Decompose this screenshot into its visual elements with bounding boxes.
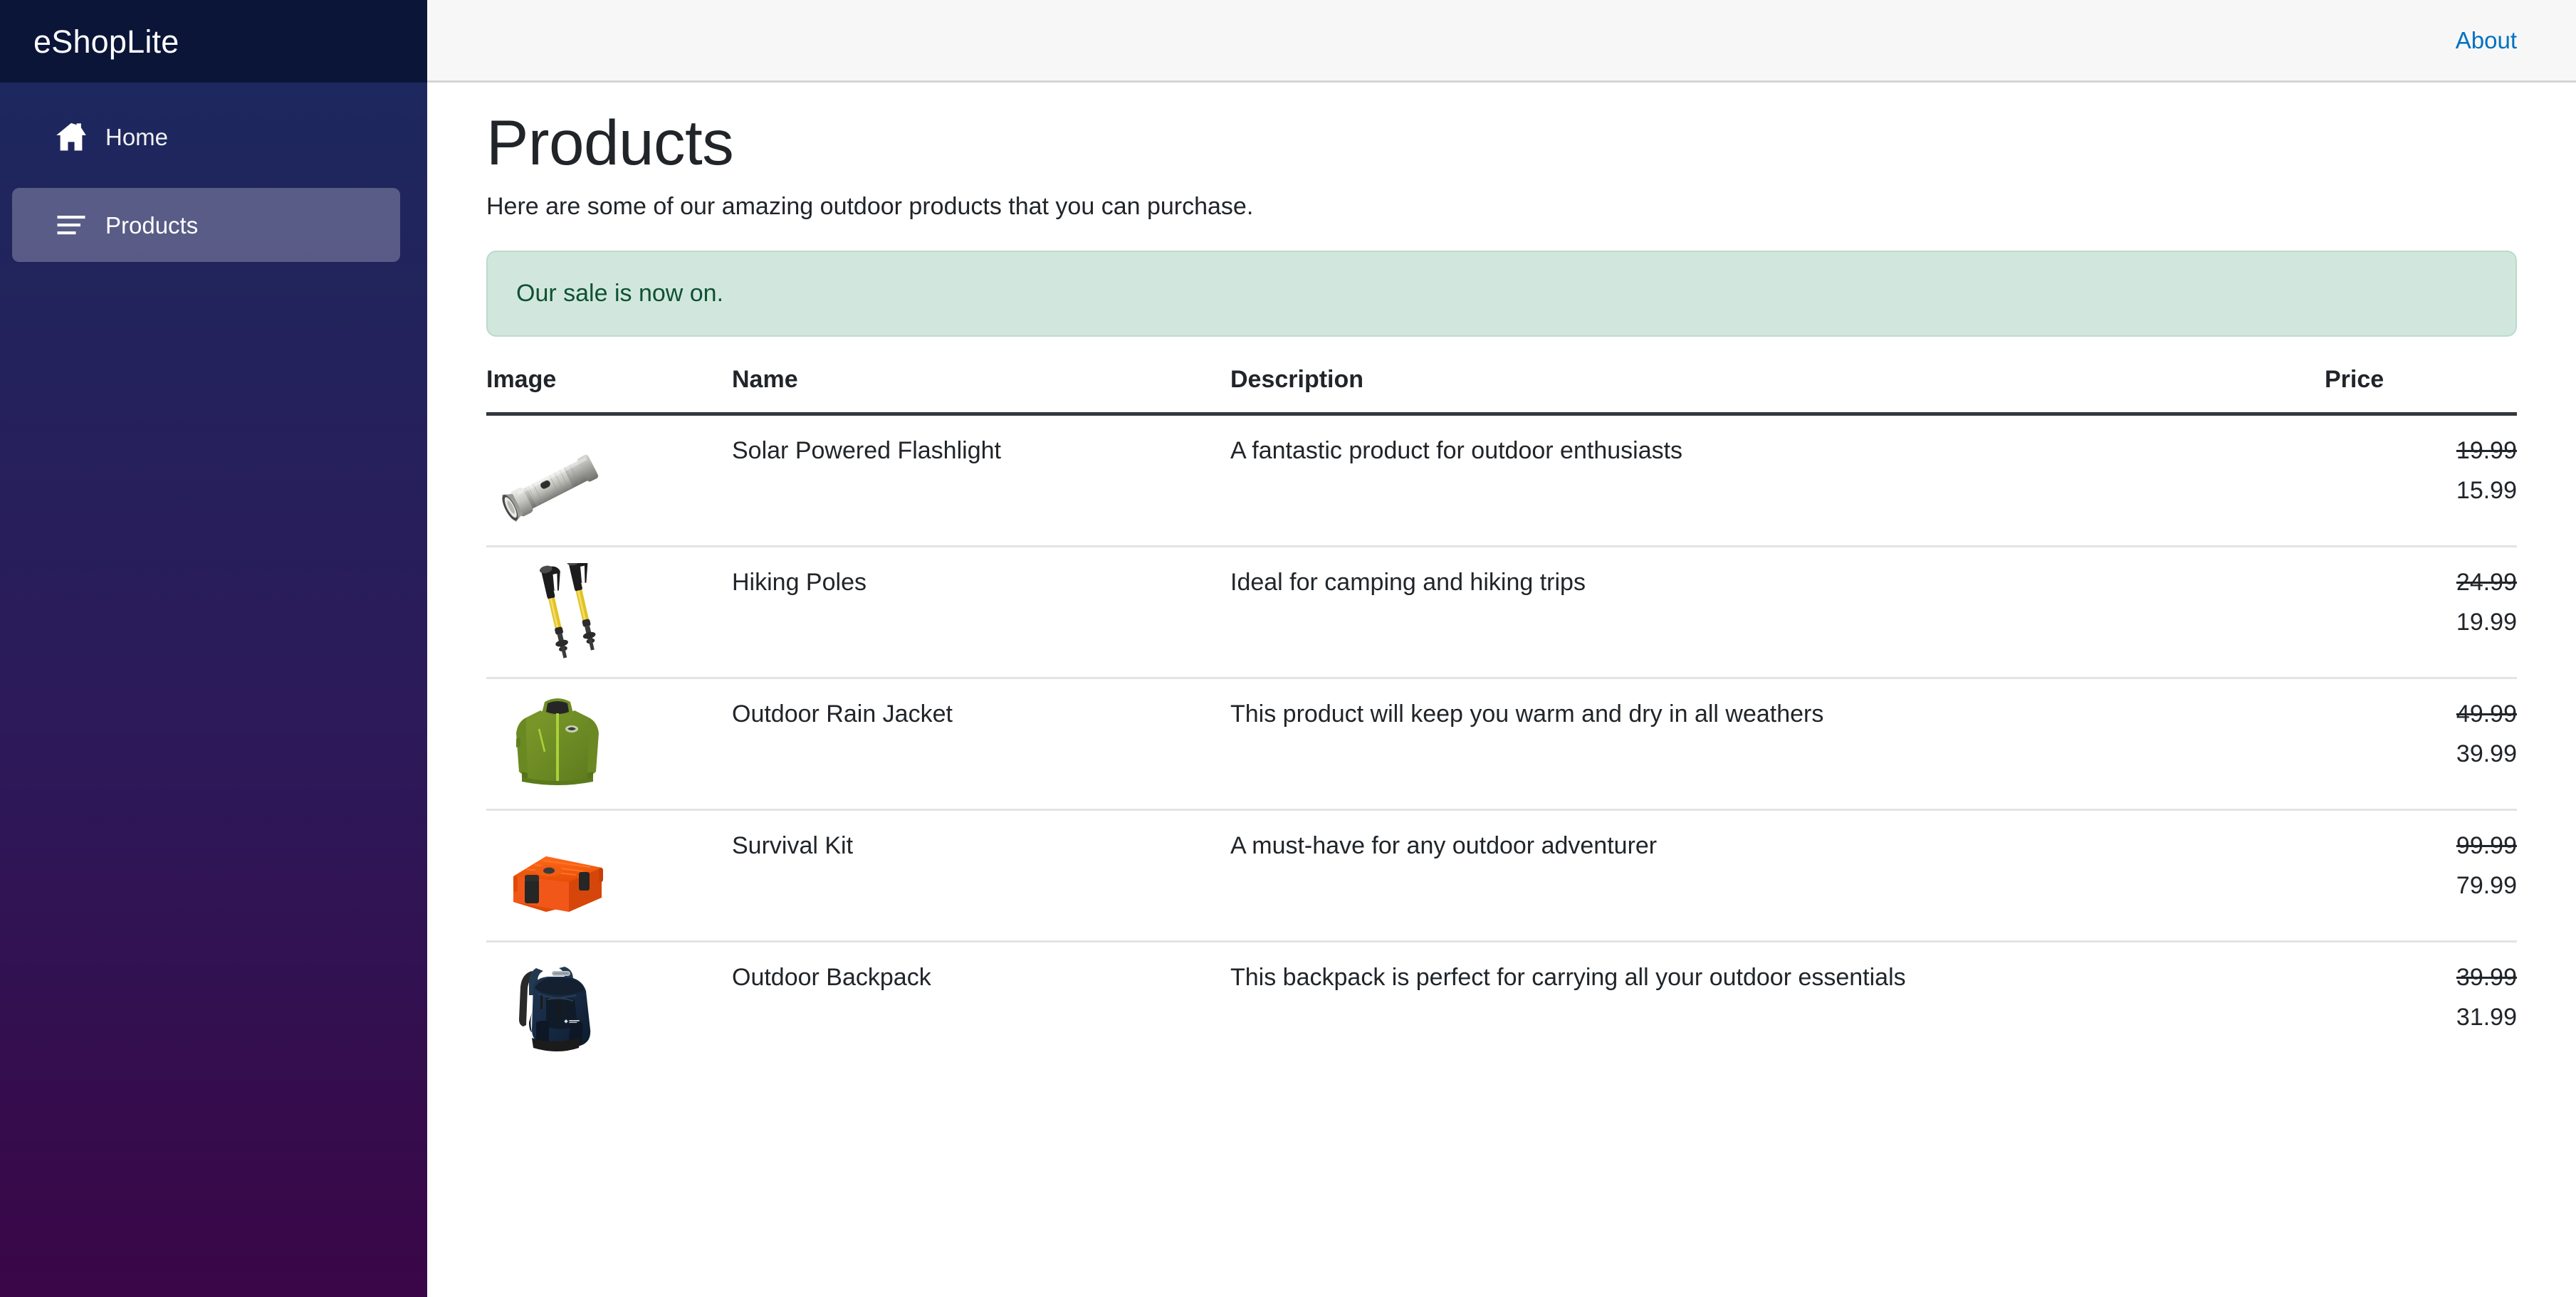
product-description: This backpack is perfect for carrying al… <box>1230 941 2325 1072</box>
product-price-cell: 99.99 79.99 <box>2325 809 2517 941</box>
price-original: 39.99 <box>2325 962 2517 993</box>
brand-bar: eShopLite <box>0 0 427 83</box>
price-sale: 31.99 <box>2325 1002 2517 1033</box>
rain-jacket-photo <box>486 695 629 802</box>
product-description: A fantastic product for outdoor enthusia… <box>1230 414 2325 546</box>
product-image-cell <box>486 678 732 809</box>
product-name: Hiking Poles <box>732 546 1230 678</box>
survival-kit-photo <box>486 826 629 933</box>
product-description: A must-have for any outdoor adventurer <box>1230 809 2325 941</box>
flashlight-photo <box>486 431 629 538</box>
column-header-description: Description <box>1230 367 2325 414</box>
column-header-name: Name <box>732 367 1230 414</box>
product-name: Survival Kit <box>732 809 1230 941</box>
product-description: This product will keep you warm and dry … <box>1230 678 2325 809</box>
column-header-price: Price <box>2325 367 2517 414</box>
product-price-cell: 39.99 31.99 <box>2325 941 2517 1072</box>
product-image-cell <box>486 414 732 546</box>
product-image-cell <box>486 941 732 1072</box>
products-table-head: Image Name Description Price <box>486 367 2517 414</box>
backpack-photo <box>486 958 629 1065</box>
price-sale: 79.99 <box>2325 871 2517 901</box>
sale-alert: Our sale is now on. <box>486 251 2517 337</box>
price-sale: 15.99 <box>2325 476 2517 506</box>
price-sale: 39.99 <box>2325 739 2517 770</box>
sidebar-item-home-label: Home <box>105 125 168 149</box>
sidebar-nav-list: Home Products <box>0 83 427 262</box>
product-price-cell: 49.99 39.99 <box>2325 678 2517 809</box>
brand-link[interactable]: eShopLite <box>33 26 179 58</box>
product-description: Ideal for camping and hiking trips <box>1230 546 2325 678</box>
column-header-image: Image <box>486 367 732 414</box>
table-row: Outdoor Rain Jacket This product will ke… <box>486 678 2517 809</box>
product-name: Outdoor Rain Jacket <box>732 678 1230 809</box>
sale-alert-text: Our sale is now on. <box>516 280 723 307</box>
price-sale: 19.99 <box>2325 607 2517 638</box>
table-row: Solar Powered Flashlight A fantastic pro… <box>486 414 2517 546</box>
page-subtitle: Here are some of our amazing outdoor pro… <box>486 191 2517 224</box>
page-title: Products <box>486 110 2517 176</box>
product-name: Solar Powered Flashlight <box>732 414 1230 546</box>
hiking-poles-photo <box>486 563 629 670</box>
list-icon <box>53 206 90 243</box>
product-name: Outdoor Backpack <box>732 941 1230 1072</box>
product-price-cell: 19.99 15.99 <box>2325 414 2517 546</box>
products-table-body: Solar Powered Flashlight A fantastic pro… <box>486 414 2517 1072</box>
top-row: About <box>427 0 2576 83</box>
price-original: 19.99 <box>2325 436 2517 466</box>
table-row: Hiking Poles Ideal for camping and hikin… <box>486 546 2517 678</box>
sidebar: eShopLite Home Pro <box>0 0 427 1297</box>
price-original: 99.99 <box>2325 831 2517 861</box>
sidebar-item-home[interactable]: Home <box>12 100 400 174</box>
price-original: 49.99 <box>2325 699 2517 730</box>
product-image-cell <box>486 546 732 678</box>
table-row: Survival Kit A must-have for any outdoor… <box>486 809 2517 941</box>
sidebar-item-products[interactable]: Products <box>12 188 400 262</box>
sidebar-item-products-label: Products <box>105 214 198 237</box>
app-root: eShopLite Home Pro <box>0 0 2576 1297</box>
table-header-row: Image Name Description Price <box>486 367 2517 414</box>
price-original: 24.99 <box>2325 567 2517 598</box>
page-content: Products Here are some of our amazing ou… <box>427 83 2576 1297</box>
products-table: Image Name Description Price <box>486 367 2517 1071</box>
house-icon <box>53 118 90 155</box>
product-price-cell: 24.99 19.99 <box>2325 546 2517 678</box>
about-link[interactable]: About <box>2456 28 2517 52</box>
table-row: Outdoor Backpack This backpack is perfec… <box>486 941 2517 1072</box>
main-area: About Products Here are some of our amaz… <box>427 0 2576 1297</box>
product-image-cell <box>486 809 732 941</box>
